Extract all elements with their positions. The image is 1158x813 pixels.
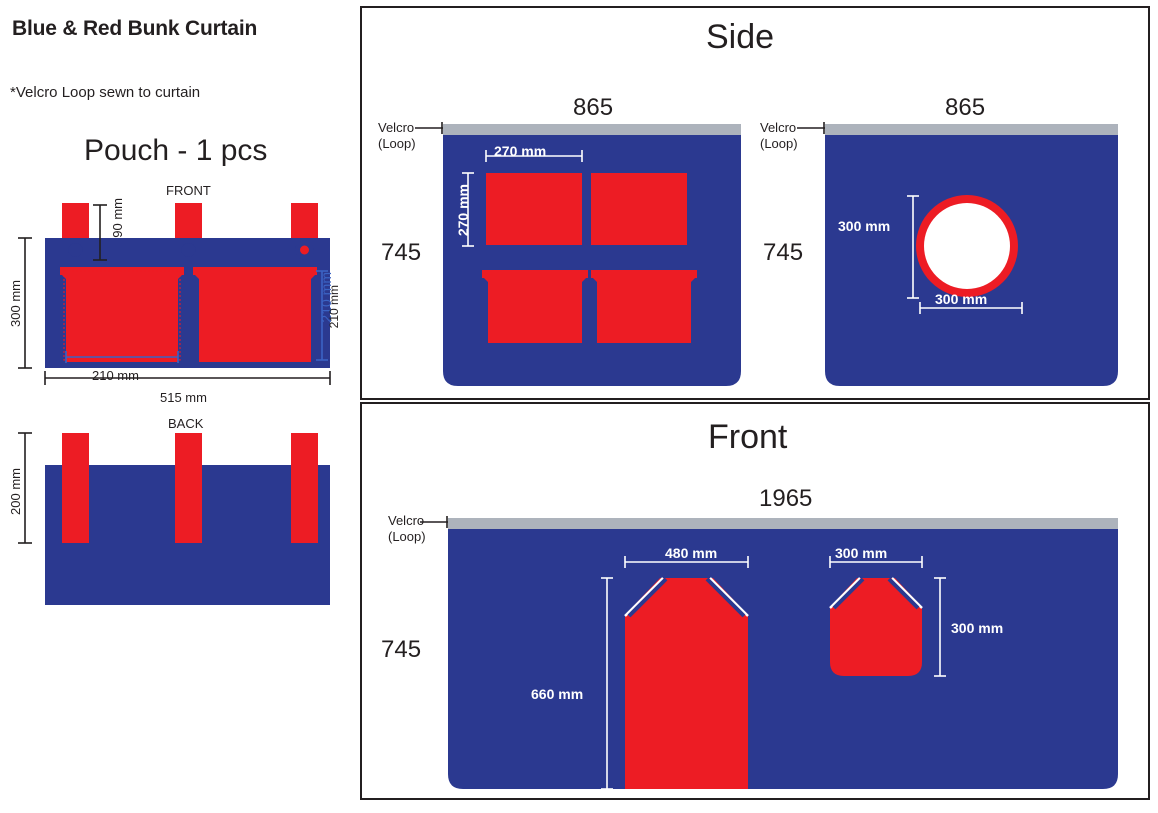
side-left-diagram — [425, 118, 765, 393]
front-small-width-label: 300 mm — [835, 545, 887, 561]
dim-label-210mm-height-2: 210 mm — [327, 285, 341, 328]
side-view-title: Side — [706, 18, 774, 57]
side-pocket-1 — [486, 173, 582, 245]
pouch-front-pocket-right — [193, 267, 317, 362]
front-view-title: Front — [708, 418, 787, 457]
dim-label-300mm-height: 300 mm — [8, 280, 23, 327]
side-right-height-label: 745 — [763, 239, 803, 267]
side-left-height-label: 745 — [381, 239, 421, 267]
side-pocket-3 — [482, 270, 588, 343]
front-height-label: 745 — [381, 636, 421, 664]
pouch-front-diagram — [0, 195, 345, 400]
side-pocket-height-label: 270 mm — [455, 184, 471, 236]
front-body — [448, 518, 1118, 789]
front-width-label: 1965 — [759, 485, 812, 513]
side-hole-width-label: 300 mm — [935, 291, 987, 307]
side-left-body — [443, 124, 741, 386]
dim-515mm-width — [45, 371, 330, 385]
pouch-front-pocket-left — [60, 267, 184, 362]
pouch-back-diagram — [0, 425, 345, 605]
page-title: Blue & Red Bunk Curtain — [12, 17, 257, 41]
side-pocket-4 — [591, 270, 697, 343]
side-left-velcro-strip — [443, 124, 741, 135]
front-velcro-strip — [448, 518, 1118, 529]
side-right-velcro-strip — [825, 124, 1118, 135]
front-small-height-label: 300 mm — [951, 620, 1003, 636]
front-large-width-label: 480 mm — [665, 545, 717, 561]
side-hole-height-label: 300 mm — [838, 218, 890, 234]
side-pocket-2 — [591, 173, 687, 245]
side-pocket-width-label: 270 mm — [494, 143, 546, 159]
pouch-heading: Pouch - 1 pcs — [84, 134, 267, 168]
front-large-height-label: 660 mm — [531, 686, 583, 702]
front-main-diagram — [432, 512, 1132, 797]
velcro-note: *Velcro Loop sewn to curtain — [10, 84, 200, 101]
dim-label-200mm: 200 mm — [8, 468, 23, 515]
dim-label-515mm: 515 mm — [160, 390, 207, 405]
side-right-diagram — [807, 118, 1147, 393]
dim-label-90mm: 90 mm — [110, 198, 125, 238]
dim-label-210mm-width: 210 mm — [92, 368, 139, 383]
side-right-hole — [924, 203, 1010, 289]
